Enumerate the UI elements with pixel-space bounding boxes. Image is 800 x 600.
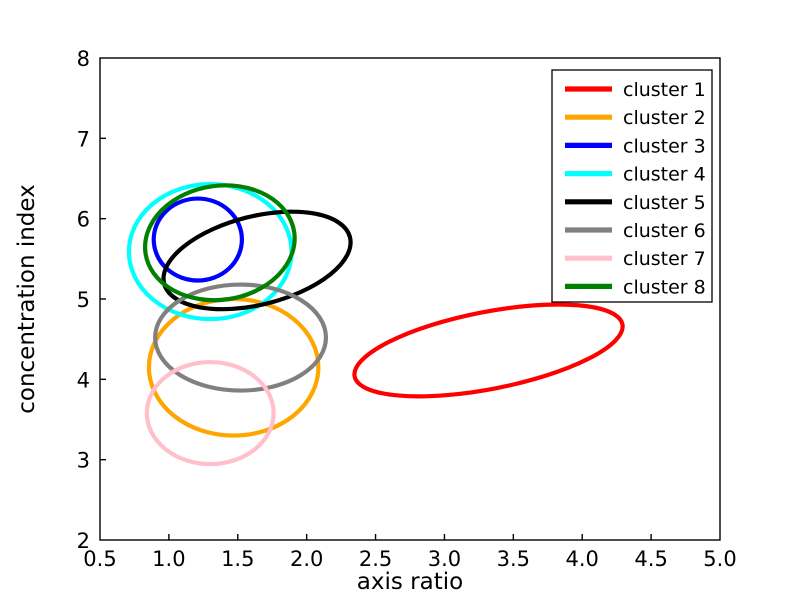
plot-figure: 0.51.01.52.02.53.03.54.04.55.0 2345678 a…: [0, 0, 800, 600]
y-tick-label: 7: [77, 127, 90, 151]
x-tick-label: 5.0: [703, 547, 736, 571]
legend-label-cluster-3: cluster 3: [623, 135, 706, 157]
legend: cluster 1cluster 2cluster 3cluster 4clus…: [552, 70, 712, 302]
y-tick-label: 8: [77, 47, 90, 71]
legend-label-cluster-4: cluster 4: [623, 164, 706, 186]
x-axis-label: axis ratio: [357, 569, 463, 595]
cluster-ellipse-cluster-7: [147, 362, 274, 464]
legend-label-cluster-6: cluster 6: [623, 220, 706, 242]
x-tick-label: 1.5: [221, 547, 254, 571]
legend-label-cluster-5: cluster 5: [623, 192, 706, 214]
x-tick-label: 2.0: [290, 547, 323, 571]
figure-canvas: 0.51.01.52.02.53.03.54.04.55.0 2345678 a…: [0, 0, 800, 600]
x-tick-label: 3.0: [428, 547, 461, 571]
y-tick-label: 5: [77, 288, 90, 312]
y-tick-label: 4: [77, 368, 90, 392]
legend-label-cluster-7: cluster 7: [623, 248, 706, 270]
x-tick-label: 1.0: [152, 547, 185, 571]
y-axis-label: concentration index: [14, 184, 40, 414]
x-tick-label: 4.0: [566, 547, 599, 571]
y-axis-ticks: 2345678: [77, 47, 106, 553]
x-tick-label: 2.5: [359, 547, 392, 571]
y-tick-label: 2: [77, 529, 90, 553]
legend-label-cluster-8: cluster 8: [623, 276, 706, 298]
y-tick-label: 3: [77, 449, 90, 473]
y-tick-label: 6: [77, 208, 90, 232]
legend-label-cluster-2: cluster 2: [623, 107, 706, 129]
cluster-ellipse-cluster-1: [347, 287, 630, 415]
x-tick-label: 4.5: [634, 547, 667, 571]
cluster-ellipse-cluster-5: [153, 194, 360, 326]
legend-label-cluster-1: cluster 1: [623, 79, 706, 101]
x-tick-label: 3.5: [497, 547, 530, 571]
